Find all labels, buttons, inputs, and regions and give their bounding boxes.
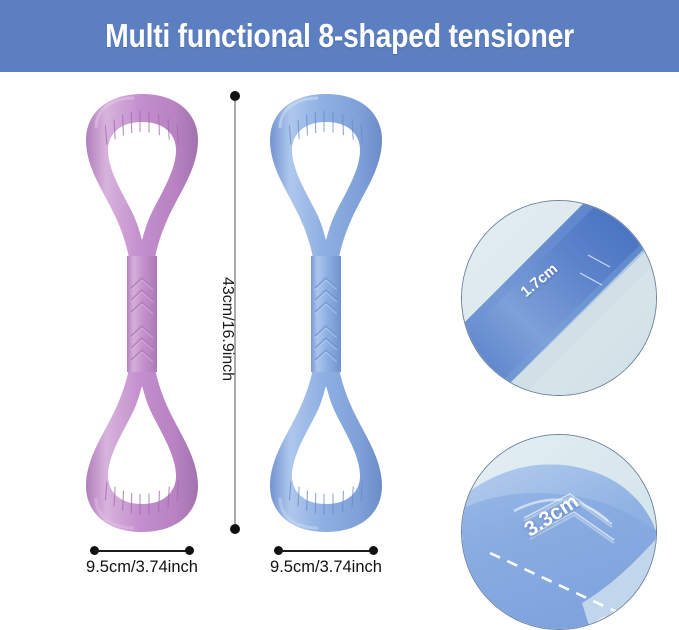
- dimension-endpoint-right: [369, 546, 378, 555]
- page-title: Multi functional 8-shaped tensioner: [105, 17, 574, 55]
- purple-width-dimension: 9.5cm/3.74inch: [62, 546, 222, 577]
- thickness-detail-circle: [461, 200, 657, 396]
- dimension-bar: [95, 550, 189, 552]
- blue-width-dimension: 9.5cm/3.74inch: [246, 546, 406, 577]
- dimension-endpoint-top: [230, 91, 240, 101]
- header-banner: Multi functional 8-shaped tensioner: [0, 0, 679, 72]
- product-showcase: 43cm/16.9inch 9.5cm/3.74inch 9.5cm/3.74i…: [0, 72, 679, 585]
- purple-tensioner: [82, 88, 202, 538]
- blue-width-label: 9.5cm/3.74inch: [246, 558, 406, 577]
- blue-tensioner: [266, 88, 386, 538]
- width-detail-circle: [461, 434, 657, 630]
- dimension-bar: [279, 550, 373, 552]
- dimension-line: [90, 546, 194, 556]
- dimension-endpoint-right: [185, 546, 194, 555]
- length-dimension-label: 43cm/16.9inch: [218, 277, 236, 381]
- dimension-line: [274, 546, 378, 556]
- dimension-endpoint-bottom: [230, 524, 240, 534]
- purple-width-label: 9.5cm/3.74inch: [62, 558, 222, 577]
